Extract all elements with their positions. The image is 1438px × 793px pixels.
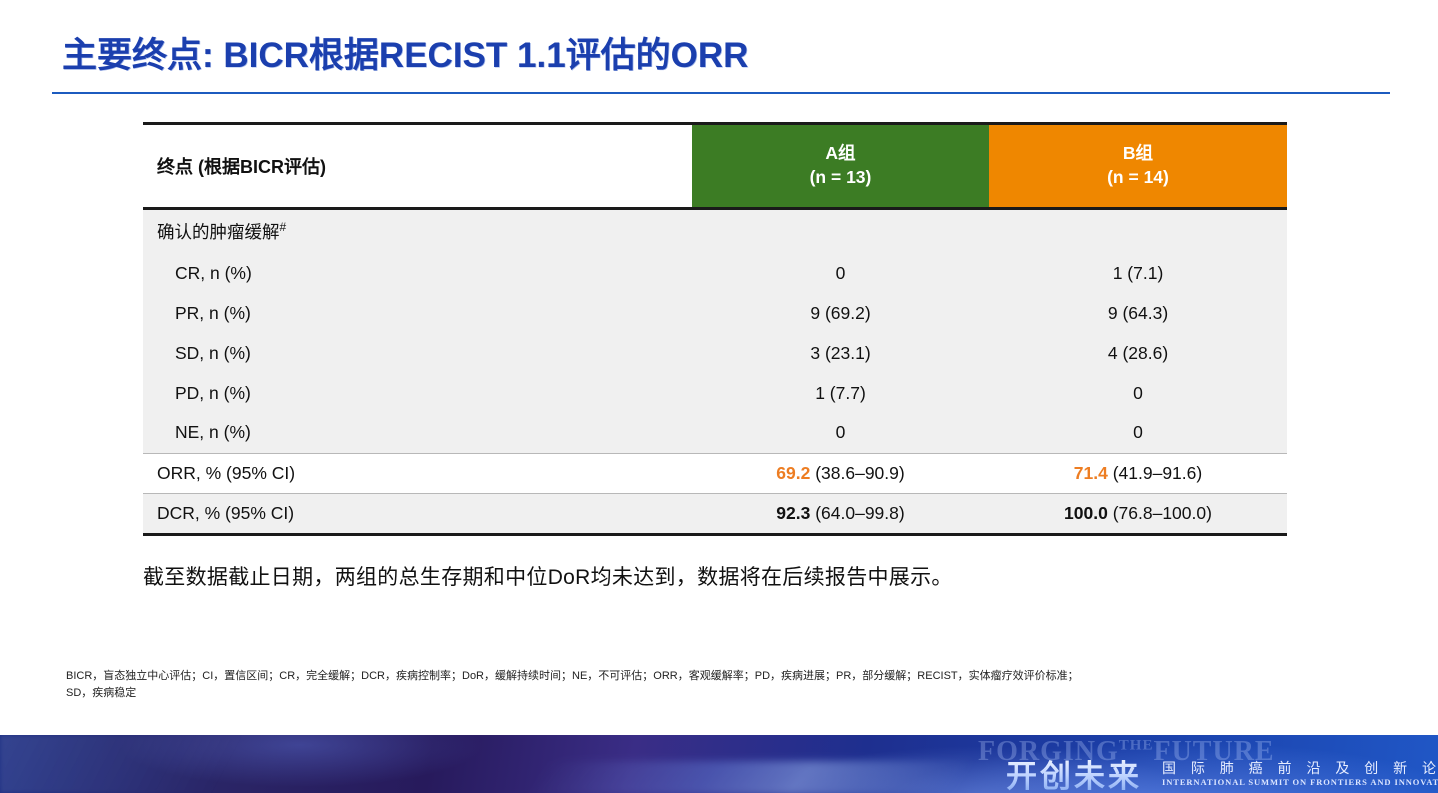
orr-ci-b: (41.9–91.6) [1108,463,1202,483]
banner-glow-streak [531,761,969,793]
row-label-cr: CR, n (%) [143,253,692,293]
table-row: PR, n (%) 9 (69.2) 9 (64.3) [143,293,1287,333]
row-value-b: 0 [989,373,1287,413]
header-cell-endpoint: 终点 (根据BICR评估) [143,125,692,207]
table-row: CR, n (%) 0 1 (7.1) [143,253,1287,293]
row-label-ne: NE, n (%) [143,413,692,453]
bottom-banner: FORGINGTHEFUTURE 开创未来 国 际 肺 癌 前 沿 及 创 新 … [0,735,1438,793]
row-value-a: 9 (69.2) [692,293,989,333]
banner-glow-left [0,735,520,793]
banner-subtitle-en: INTERNATIONAL SUMMIT ON FRONTIERS AND IN… [1162,777,1438,787]
header-group-b-label: B组 [1123,142,1153,166]
page-title: 主要终点: BICR根据RECIST 1.1评估的ORR [62,27,748,78]
dcr-value-b: 100.0 [1064,503,1108,523]
row-value-b: 9 (64.3) [989,293,1287,333]
table-row: ORR, % (95% CI) 69.2 (38.6–90.9) 71.4 (4… [143,454,1287,494]
dcr-value-a: 92.3 [776,503,810,523]
summary-caption: 截至数据截止日期，两组的总生存期和中位DoR均未达到，数据将在后续报告中展示。 [143,561,953,591]
table-row: PD, n (%) 1 (7.7) 0 [143,373,1287,413]
slide: 主要终点: BICR根据RECIST 1.1评估的ORR 终点 (根据BICR评… [0,0,1438,793]
header-group-b-n: (n = 14) [1107,166,1169,190]
footnote-marker: # [280,220,287,234]
row-value-a [692,209,989,254]
row-value-a: 0 [692,253,989,293]
footnote-block: BICR，盲态独立中心评估；CI，置信区间；CR，完全缓解；DCR，疾病控制率；… [66,668,1386,702]
row-value-b: 4 (28.6) [989,333,1287,373]
dcr-ci-a: (64.0–99.8) [810,503,904,523]
row-label-orr: ORR, % (95% CI) [143,454,692,494]
table-header-row: 终点 (根据BICR评估) A组 (n = 13) B组 (n = 14) [143,125,1287,207]
table-bottom-rule [143,535,1287,537]
banner-brand-cn: 开创未来 [1006,751,1142,793]
table-row: DCR, % (95% CI) 92.3 (64.0–99.8) 100.0 (… [143,494,1287,535]
table-row: SD, n (%) 3 (23.1) 4 (28.6) [143,333,1287,373]
orr-ci-a: (38.6–90.9) [810,463,904,483]
row-label-sd: SD, n (%) [143,333,692,373]
row-value-b: 71.4 (41.9–91.6) [989,454,1287,494]
results-table: 终点 (根据BICR评估) A组 (n = 13) B组 (n = 14) [143,122,1287,536]
row-value-b: 100.0 (76.8–100.0) [989,494,1287,535]
row-label-pd: PD, n (%) [143,373,692,413]
header-group-a-n: (n = 13) [810,166,872,190]
row-value-b: 0 [989,413,1287,453]
row-label-confirmed-response: 确认的肿瘤缓解# [143,209,692,254]
table-row: NE, n (%) 0 0 [143,413,1287,453]
banner-subtitle-cn: 国 际 肺 癌 前 沿 及 创 新 论 坛 [1162,758,1438,778]
footnote-line-1: BICR，盲态独立中心评估；CI，置信区间；CR，完全缓解；DCR，疾病控制率；… [66,668,1386,685]
row-value-b: 1 (7.1) [989,253,1287,293]
header-endpoint-label: 终点 (根据BICR评估) [143,125,692,207]
row-value-a: 0 [692,413,989,453]
row-value-a: 69.2 (38.6–90.9) [692,454,989,494]
dcr-ci-b: (76.8–100.0) [1108,503,1212,523]
header-cell-group-a: A组 (n = 13) [692,125,989,207]
table-row: 确认的肿瘤缓解# [143,209,1287,254]
row-label-pr: PR, n (%) [143,293,692,333]
row-value-a: 3 (23.1) [692,333,989,373]
header-cell-group-b: B组 (n = 14) [989,125,1287,207]
row-value-b [989,209,1287,254]
orr-value-b: 71.4 [1074,463,1108,483]
row-label-text: 确认的肿瘤缓解 [157,222,280,242]
row-value-a: 1 (7.7) [692,373,989,413]
row-value-a: 92.3 (64.0–99.8) [692,494,989,535]
footnote-line-2: SD，疾病稳定 [66,685,1386,702]
row-label-dcr: DCR, % (95% CI) [143,494,692,535]
results-table-container: 终点 (根据BICR评估) A组 (n = 13) B组 (n = 14) [143,122,1287,536]
orr-value-a: 69.2 [776,463,810,483]
header-group-a-label: A组 [825,142,855,166]
title-divider [52,92,1390,94]
